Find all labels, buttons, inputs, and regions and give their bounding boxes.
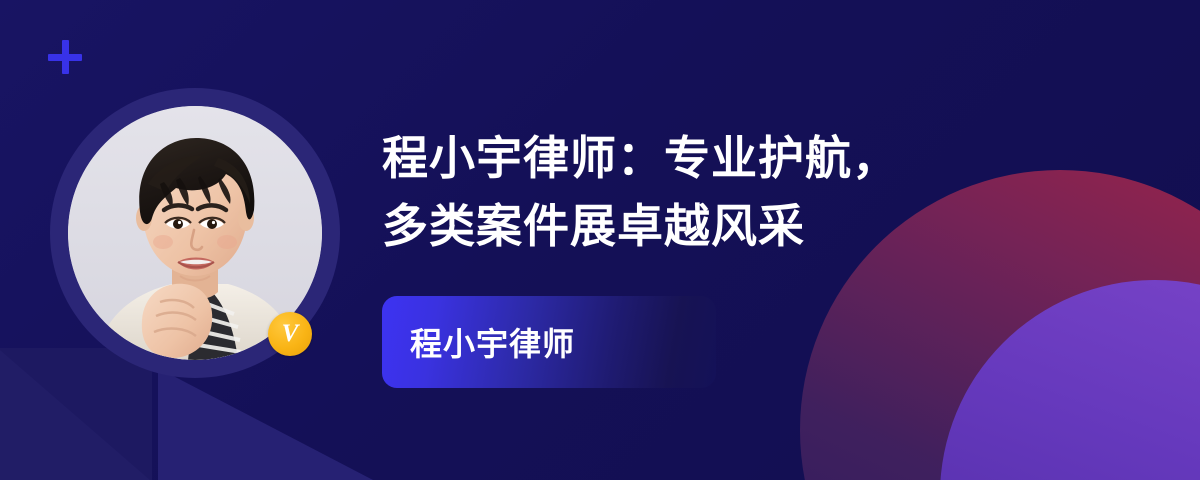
lawyer-name-button[interactable]: 程小宇律师 (382, 296, 716, 388)
headline-line-2: 多类案件展卓越风采 (382, 192, 1142, 260)
headline-line-1: 程小宇律师：专业护航， (382, 124, 1142, 192)
plus-icon (45, 37, 85, 77)
avatar[interactable]: V (50, 88, 340, 378)
decorative-triangle-right (158, 368, 373, 480)
verified-badge-glyph: V (282, 321, 299, 346)
promo-banner: V 程小宇律师：专业护航， 多类案件展卓越风采 程小宇律师 (0, 0, 1200, 480)
headline-block: 程小宇律师：专业护航， 多类案件展卓越风采 (382, 124, 1142, 260)
decorative-circle-inner (940, 280, 1200, 480)
verified-badge-icon: V (268, 312, 312, 356)
